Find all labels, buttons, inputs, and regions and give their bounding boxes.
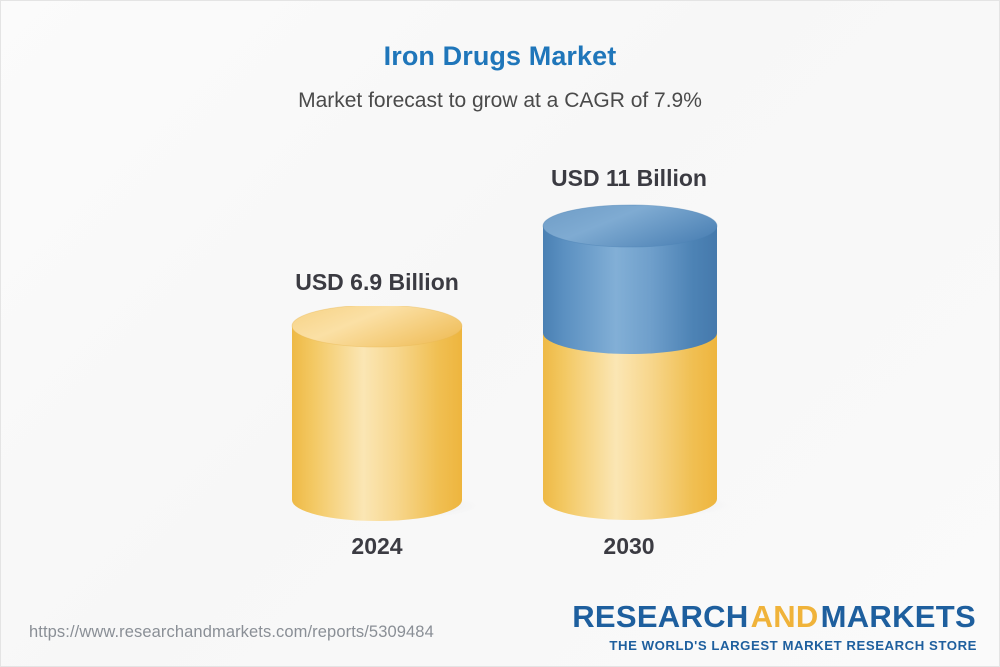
bar-cylinder-2030 (536, 199, 731, 521)
logo-word-markets: MARKETS (821, 599, 976, 634)
chart-plot-area: USD 6.9 Billion (1, 1, 1000, 667)
bar-category-label-2030: 2030 (469, 533, 789, 560)
bar-cylinder-2024 (286, 306, 476, 521)
logo-word-research: RESEARCH (572, 599, 748, 634)
logo-wordmark: RESEARCHANDMARKETS (571, 601, 977, 632)
logo-tagline: THE WORLD'S LARGEST MARKET RESEARCH STOR… (571, 639, 977, 652)
research-and-markets-logo[interactable]: RESEARCHANDMARKETS THE WORLD'S LARGEST M… (571, 601, 977, 652)
source-url-link[interactable]: https://www.researchandmarkets.com/repor… (29, 623, 434, 642)
logo-word-and: AND (751, 599, 819, 634)
infographic-card: Iron Drugs Market Market forecast to gro… (0, 0, 1000, 667)
bar-value-label-2030: USD 11 Billion (469, 165, 789, 192)
bar-value-label-2024: USD 6.9 Billion (217, 269, 537, 296)
